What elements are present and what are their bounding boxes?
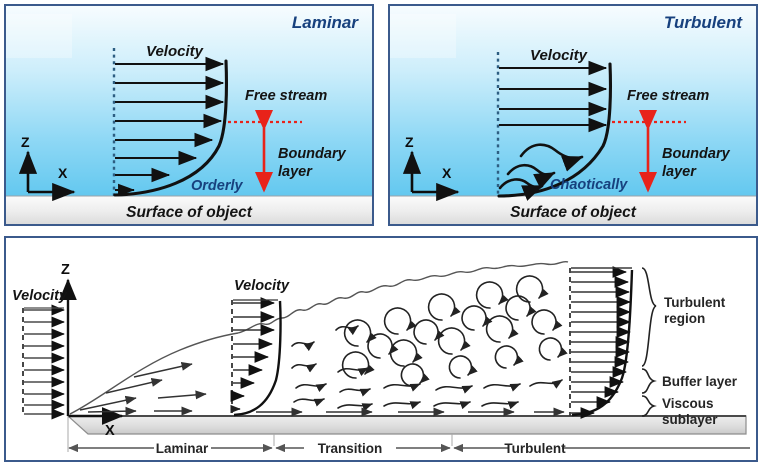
zone-label-turbulent: Turbulent	[504, 441, 566, 456]
velocity-label: Velocity	[146, 43, 204, 60]
bracket-label-viscous-sublayer-line1: Viscous	[662, 396, 714, 411]
bracket-label-viscous-sublayer-line2: sublayer	[662, 412, 718, 427]
surface-label: Surface of object	[510, 204, 637, 221]
surface-label: Surface of object	[126, 204, 253, 221]
turbulent-diagram: Turbulent Z X	[390, 6, 756, 224]
flat-plate	[68, 416, 746, 434]
panel-development: Z X Velocity	[4, 236, 758, 462]
axis-label-x: X	[105, 423, 115, 439]
boundary-layer-label-line1: Boundary	[278, 146, 347, 162]
boundary-layer-label-line1: Boundary	[662, 146, 731, 162]
panel-title-turbulent: Turbulent	[664, 13, 743, 32]
bracket-label-turbulent-region-line1: Turbulent	[664, 295, 726, 310]
zone-label-laminar: Laminar	[156, 441, 209, 456]
bracket-label-turbulent-region-line2: region	[664, 311, 705, 326]
panel-turbulent: Turbulent Z X	[388, 4, 758, 226]
velocity-label-laminar: Velocity	[234, 278, 290, 294]
panel-title-laminar: Laminar	[292, 13, 360, 32]
axis-label-x: X	[442, 165, 452, 181]
axis-label-z: Z	[405, 134, 414, 150]
boundary-layer-figure: Laminar Z X	[0, 0, 763, 466]
flow-character-label: Orderly	[191, 178, 244, 194]
axis-label-x: X	[58, 165, 68, 181]
panel-laminar: Laminar Z X	[4, 4, 374, 226]
boundary-layer-label-line2: layer	[278, 164, 313, 180]
velocity-label: Velocity	[530, 47, 588, 64]
flow-character-label: Chaotically	[550, 177, 628, 193]
laminar-diagram: Laminar Z X	[6, 6, 372, 224]
highlight-patch	[390, 14, 456, 58]
axis-label-z: Z	[21, 134, 30, 150]
axis-label-z: Z	[61, 262, 70, 278]
zone-label-transition: Transition	[318, 441, 383, 456]
free-stream-label: Free stream	[245, 88, 327, 104]
free-stream-label: Free stream	[627, 88, 709, 104]
bracket-label-buffer-layer: Buffer layer	[662, 374, 738, 389]
velocity-label-inlet: Velocity	[12, 288, 68, 304]
highlight-patch	[6, 14, 72, 58]
development-diagram: Z X Velocity	[6, 238, 756, 460]
boundary-layer-label-line2: layer	[662, 164, 697, 180]
